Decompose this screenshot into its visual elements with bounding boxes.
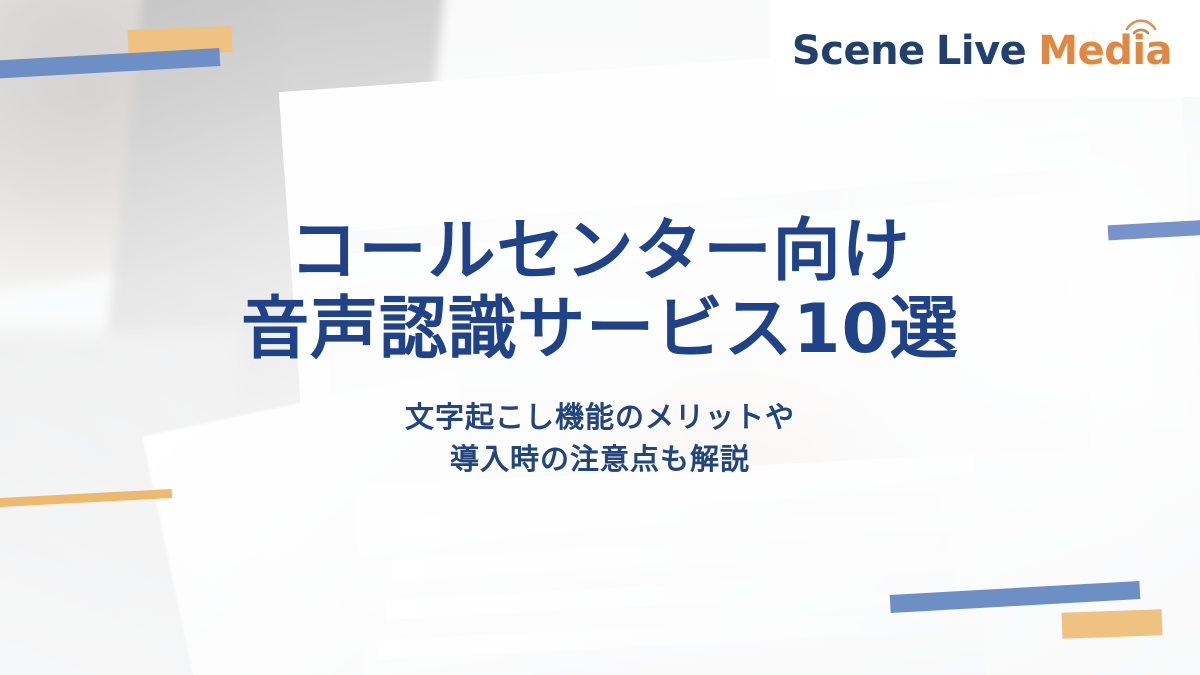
title-line-1: コールセンター向け (241, 213, 959, 292)
subtitle-line-2: 導入時の注意点も解説 (405, 438, 795, 480)
text-block: コールセンター向け 音声認識サービス10選 文字起こし機能のメリットや 導入時の… (0, 0, 1200, 675)
subtitle-line-1: 文字起こし機能のメリットや (405, 396, 795, 438)
title-line-2: 音声認識サービス10選 (241, 291, 959, 370)
page-title: コールセンター向け 音声認識サービス10選 (241, 213, 959, 371)
page-subtitle: 文字起こし機能のメリットや 導入時の注意点も解説 (405, 396, 795, 480)
eyecatch-card: SceneLiveMedia コールセンター向け 音声認識サービス10選 文字起… (0, 0, 1200, 675)
